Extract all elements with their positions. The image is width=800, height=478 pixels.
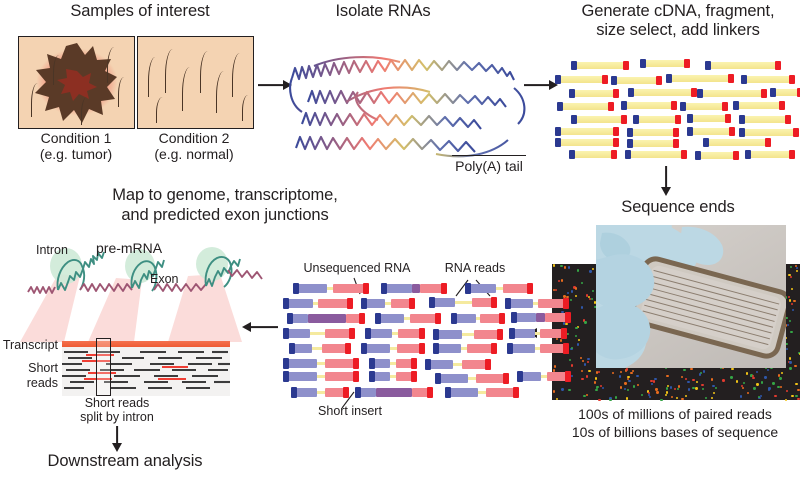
- cluster-dot: [619, 375, 621, 377]
- cluster-dot: [681, 398, 683, 400]
- cluster-dot: [786, 348, 788, 350]
- cluster-dot: [797, 398, 799, 400]
- cluster-dot: [685, 395, 687, 397]
- cluster-dot: [696, 381, 698, 383]
- cluster-dot: [787, 324, 789, 326]
- cluster-dot: [789, 367, 791, 369]
- cluster-dot: [570, 299, 572, 301]
- cluster-dot: [568, 389, 570, 391]
- cluster-dot: [756, 371, 758, 373]
- cluster-dot: [730, 376, 732, 378]
- arrow-down-icon-cdna-to-sequence: [660, 166, 672, 196]
- figure-canvas: Samples of interest Condition 1 (e.g. tu…: [0, 0, 800, 478]
- pre-mrna-label: pre-mRNA: [96, 241, 196, 256]
- cluster-dot: [560, 265, 562, 267]
- cluster-dot: [789, 320, 791, 322]
- cluster-dot: [790, 266, 792, 268]
- intron-label: Intron: [36, 243, 98, 258]
- cluster-dot: [575, 287, 577, 289]
- cluster-dot: [695, 387, 697, 389]
- tissue-panel-condition-2: [137, 36, 254, 129]
- cluster-dot: [789, 361, 791, 363]
- cluster-dot: [792, 309, 794, 311]
- cluster-dot: [705, 397, 707, 399]
- short-reads-label: Short reads: [0, 361, 58, 390]
- cluster-dot: [796, 270, 798, 272]
- cluster-dot: [641, 394, 643, 396]
- cluster-dot: [651, 383, 653, 385]
- cluster-dot: [793, 300, 795, 302]
- cluster-dot: [660, 399, 662, 401]
- cluster-dot: [591, 298, 593, 300]
- polyA-underline: [452, 155, 526, 156]
- cluster-dot: [785, 399, 787, 401]
- cluster-dot: [612, 372, 614, 374]
- cluster-dot: [764, 376, 766, 378]
- cluster-dot: [575, 335, 577, 337]
- cluster-dot: [586, 294, 588, 296]
- cluster-dot: [595, 389, 597, 391]
- cluster-dot: [653, 380, 655, 382]
- cluster-dot: [609, 399, 611, 401]
- cluster-dot: [692, 379, 694, 381]
- cluster-dot: [676, 397, 678, 399]
- samples-title: Samples of interest: [20, 2, 260, 21]
- cluster-dot: [571, 364, 573, 366]
- cluster-dot: [740, 395, 742, 397]
- cluster-dot: [772, 382, 774, 384]
- cluster-dot: [688, 388, 690, 390]
- cluster-dot: [701, 384, 703, 386]
- cluster-dot: [767, 369, 769, 371]
- cluster-dot: [778, 374, 780, 376]
- cluster-dot: [683, 369, 685, 371]
- cluster-dot: [713, 392, 715, 394]
- cluster-dot: [665, 394, 667, 396]
- cluster-dot: [564, 266, 566, 268]
- rna-strands-illustration: [286, 36, 534, 160]
- cluster-dot: [561, 388, 563, 390]
- cluster-dot: [677, 388, 679, 390]
- cluster-dot: [592, 268, 594, 270]
- cluster-dot: [553, 264, 555, 266]
- cluster-dot: [777, 386, 779, 388]
- cluster-dot: [780, 386, 782, 388]
- sequence-output-line2: 10s of billions bases of sequence: [550, 424, 800, 440]
- cluster-dot: [581, 370, 583, 372]
- cluster-dot: [768, 388, 770, 390]
- cluster-dot: [703, 370, 705, 372]
- cluster-dot: [620, 386, 622, 388]
- cluster-dot: [790, 276, 792, 278]
- cluster-dot: [624, 382, 626, 384]
- cluster-dot: [578, 339, 580, 341]
- cluster-dot: [598, 399, 600, 401]
- cluster-dot: [795, 383, 797, 385]
- cluster-dot: [637, 384, 639, 386]
- cluster-dot: [577, 343, 579, 345]
- cluster-dot: [615, 396, 617, 398]
- transcript-label: Transcript: [0, 338, 58, 353]
- cluster-dot: [626, 397, 628, 399]
- cluster-dot: [666, 391, 668, 393]
- cluster-dot: [627, 389, 629, 391]
- cluster-dot: [553, 390, 555, 392]
- cdna-fragment-field: [552, 56, 800, 160]
- cluster-dot: [582, 360, 584, 362]
- condition-1-label-line1: Condition 1: [10, 130, 142, 146]
- cluster-dot: [795, 395, 797, 397]
- sequence-title: Sequence ends: [556, 198, 800, 217]
- cluster-dot: [587, 361, 589, 363]
- short-reads-split-caption-line1: Short reads: [62, 396, 172, 411]
- map-title-line1: Map to genome, transcriptome,: [60, 186, 390, 205]
- cluster-dot: [554, 365, 556, 367]
- cluster-dot: [580, 357, 582, 359]
- paired-reads-field: [284, 284, 532, 400]
- cluster-dot: [567, 292, 569, 294]
- cluster-dot: [571, 347, 573, 349]
- cluster-dot: [630, 372, 632, 374]
- cluster-dot: [712, 385, 714, 387]
- cluster-dot: [670, 386, 672, 388]
- cluster-dot: [791, 288, 793, 290]
- cluster-dot: [589, 270, 591, 272]
- cluster-dot: [556, 398, 558, 400]
- cluster-dot: [789, 299, 791, 301]
- cluster-dot: [594, 381, 596, 383]
- cluster-dot: [671, 396, 673, 398]
- cluster-dot: [797, 389, 799, 391]
- cluster-dot: [588, 370, 590, 372]
- cluster-dot: [752, 377, 754, 379]
- cluster-dot: [711, 397, 713, 399]
- cluster-dot: [796, 267, 798, 269]
- cluster-dot: [626, 368, 628, 370]
- cluster-dot: [571, 375, 573, 377]
- cluster-dot: [624, 388, 626, 390]
- cluster-dot: [654, 378, 656, 380]
- cluster-dot: [781, 372, 783, 374]
- short-reads-pileup: [62, 349, 232, 397]
- cluster-dot: [789, 357, 791, 359]
- cluster-dot: [561, 279, 563, 281]
- intron-split-highlight: [96, 338, 111, 396]
- cluster-dot: [558, 280, 560, 282]
- cluster-dot: [560, 339, 562, 341]
- cluster-dot: [788, 296, 790, 298]
- cluster-dot: [791, 395, 793, 397]
- cluster-dot: [747, 392, 749, 394]
- cluster-dot: [581, 282, 583, 284]
- cluster-dot: [633, 385, 635, 387]
- cluster-dot: [632, 370, 634, 372]
- cluster-dot: [666, 375, 668, 377]
- cluster-dot: [598, 371, 600, 373]
- cluster-dot: [687, 381, 689, 383]
- arrow-down-icon-map-to-downstream: [111, 426, 123, 452]
- cluster-dot: [568, 266, 570, 268]
- cluster-dot: [584, 363, 586, 365]
- cluster-dot: [581, 378, 583, 380]
- cluster-dot: [736, 380, 738, 382]
- cdna-title-line2: size select, add linkers: [556, 21, 800, 40]
- cluster-dot: [790, 331, 792, 333]
- cluster-dot: [779, 377, 781, 379]
- cluster-dot: [595, 377, 597, 379]
- condition-2-label-line1: Condition 2: [128, 130, 260, 146]
- cluster-dot: [627, 376, 629, 378]
- map-title-line2: and predicted exon junctions: [60, 206, 390, 225]
- cluster-dot: [592, 290, 594, 292]
- cdna-title-line1: Generate cDNA, fragment,: [556, 2, 800, 21]
- flowcell-photo: [596, 225, 786, 368]
- cluster-dot: [791, 303, 793, 305]
- cluster-dot: [575, 327, 577, 329]
- downstream-title: Downstream analysis: [10, 452, 240, 471]
- cluster-dot: [584, 321, 586, 323]
- cluster-dot: [666, 387, 668, 389]
- cluster-dot: [761, 381, 763, 383]
- cluster-dot: [586, 394, 588, 396]
- isolate-title: Isolate RNAs: [258, 2, 508, 21]
- cluster-dot: [715, 387, 717, 389]
- tissue-panel-condition-1: [18, 36, 135, 129]
- cluster-dot: [586, 375, 588, 377]
- sequence-output-line1: 100s of millions of paired reads: [550, 406, 800, 422]
- cluster-dot: [746, 372, 748, 374]
- transcript-bar: [62, 341, 230, 347]
- cluster-dot: [794, 365, 796, 367]
- cluster-dot: [690, 368, 692, 370]
- cluster-dot: [656, 391, 658, 393]
- cluster-dot: [711, 378, 713, 380]
- cluster-dot: [567, 333, 569, 335]
- cluster-dot: [569, 359, 571, 361]
- cluster-dot: [628, 380, 630, 382]
- cluster-dot: [774, 395, 776, 397]
- polyA-tail-label: Poly(A) tail: [428, 158, 550, 174]
- condition-1-label-line2: (e.g. tumor): [10, 146, 142, 162]
- cluster-dot: [581, 306, 583, 308]
- cluster-dot: [636, 375, 638, 377]
- short-insert-label: Short insert: [290, 404, 410, 419]
- cluster-dot: [555, 289, 557, 291]
- cluster-dot: [575, 295, 577, 297]
- cluster-dot: [583, 395, 585, 397]
- cluster-dot: [602, 387, 604, 389]
- cluster-dot: [753, 387, 755, 389]
- cluster-dot: [722, 379, 724, 381]
- cluster-dot: [681, 376, 683, 378]
- cluster-dot: [553, 289, 555, 291]
- cluster-dot: [702, 388, 704, 390]
- cluster-dot: [674, 388, 676, 390]
- cluster-dot: [756, 383, 758, 385]
- cluster-dot: [571, 290, 573, 292]
- condition-2-label-line2: (e.g. normal): [128, 146, 260, 162]
- cluster-dot: [577, 269, 579, 271]
- cluster-dot: [742, 387, 744, 389]
- cluster-dot: [650, 380, 652, 382]
- cluster-dot: [743, 382, 745, 384]
- exon-label: Exon: [150, 272, 210, 287]
- short-reads-split-caption-line2: split by intron: [62, 410, 172, 425]
- cluster-dot: [565, 323, 567, 325]
- cluster-dot: [786, 390, 788, 392]
- cluster-dot: [620, 371, 622, 373]
